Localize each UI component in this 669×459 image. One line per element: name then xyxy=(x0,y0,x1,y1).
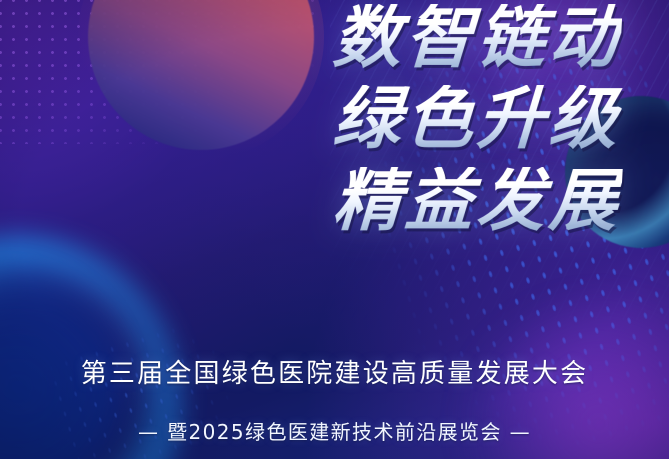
conference-title: 第三届全国绿色医院建设高质量发展大会 xyxy=(0,353,669,390)
poster-headline: 数智链动 绿色升级 精益发展 xyxy=(181,4,621,236)
exhibition-subtitle: — 暨2025绿色医建新技术前沿展览会 — xyxy=(0,416,669,445)
headline-line-1: 数智链动 xyxy=(179,4,623,73)
poster-subtitle-block: 第三届全国绿色医院建设高质量发展大会 — 暨2025绿色医建新技术前沿展览会 — xyxy=(0,353,669,445)
conference-poster: 数智链动 绿色升级 精益发展 第三届全国绿色医院建设高质量发展大会 — 暨202… xyxy=(0,0,669,459)
headline-line-2: 绿色升级 xyxy=(179,85,623,154)
headline-line-3: 精益发展 xyxy=(179,167,623,236)
